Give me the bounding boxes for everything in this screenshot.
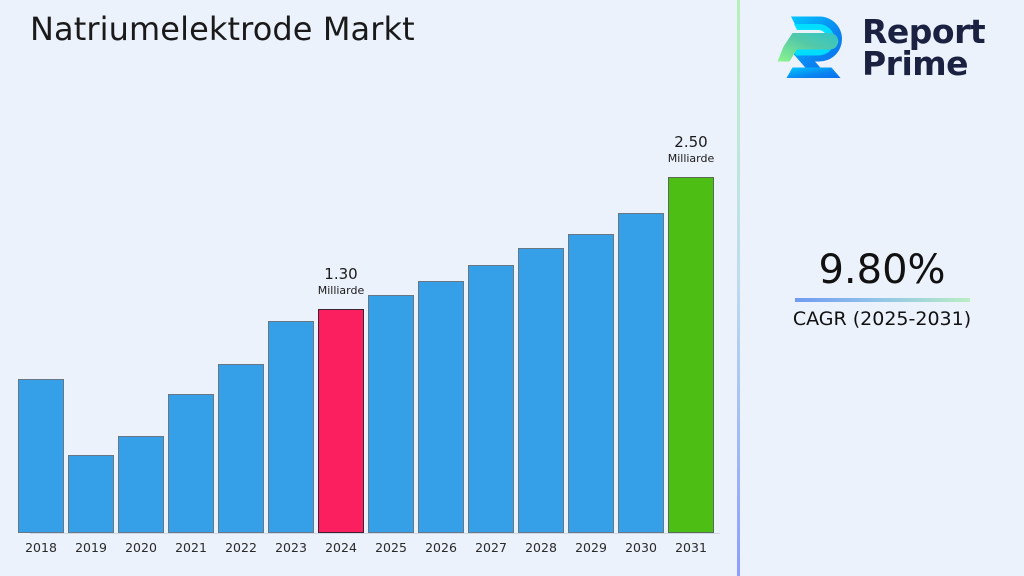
cagr-value: 9.80%	[740, 248, 1024, 292]
cagr-label: CAGR (2025-2031)	[740, 308, 1024, 330]
bar-value-number-2024: 1.30	[271, 267, 411, 283]
bar-2025[interactable]	[368, 295, 414, 533]
bar-2022[interactable]	[218, 364, 264, 533]
cagr-divider-rule	[795, 298, 970, 302]
bar-2027[interactable]	[468, 265, 514, 533]
brand-name-line2: Prime	[862, 48, 985, 80]
right-panel: Report Prime 9.80% CAGR (2025-2031)	[740, 0, 1024, 576]
brand-wordmark: Report Prime	[862, 16, 985, 80]
bar-2026[interactable]	[418, 281, 464, 533]
cagr-block: 9.80% CAGR (2025-2031)	[740, 248, 1024, 330]
bar-2024[interactable]	[318, 309, 364, 533]
bar-value-label-2024: 1.30Milliarde	[271, 267, 411, 296]
bar-2031[interactable]	[668, 177, 714, 533]
bar-2018[interactable]	[18, 379, 64, 533]
x-axis-tick-2031: 2031	[661, 540, 721, 555]
bar-2019[interactable]	[68, 455, 114, 533]
report-prime-logo-icon	[774, 12, 850, 84]
bar-2021[interactable]	[168, 394, 214, 533]
bar-2020[interactable]	[118, 436, 164, 533]
infographic-root: Natriumelektrode Markt 20182019202020212…	[0, 0, 1024, 576]
bar-2028[interactable]	[518, 248, 564, 533]
bar-2030[interactable]	[618, 213, 664, 533]
bar-2023[interactable]	[268, 321, 314, 533]
bars-layer: 2018201920202021202220231.30Milliarde202…	[0, 0, 738, 576]
bar-chart: 2018201920202021202220231.30Milliarde202…	[0, 0, 738, 576]
brand-logo: Report Prime	[774, 12, 985, 84]
bar-2029[interactable]	[568, 234, 614, 533]
